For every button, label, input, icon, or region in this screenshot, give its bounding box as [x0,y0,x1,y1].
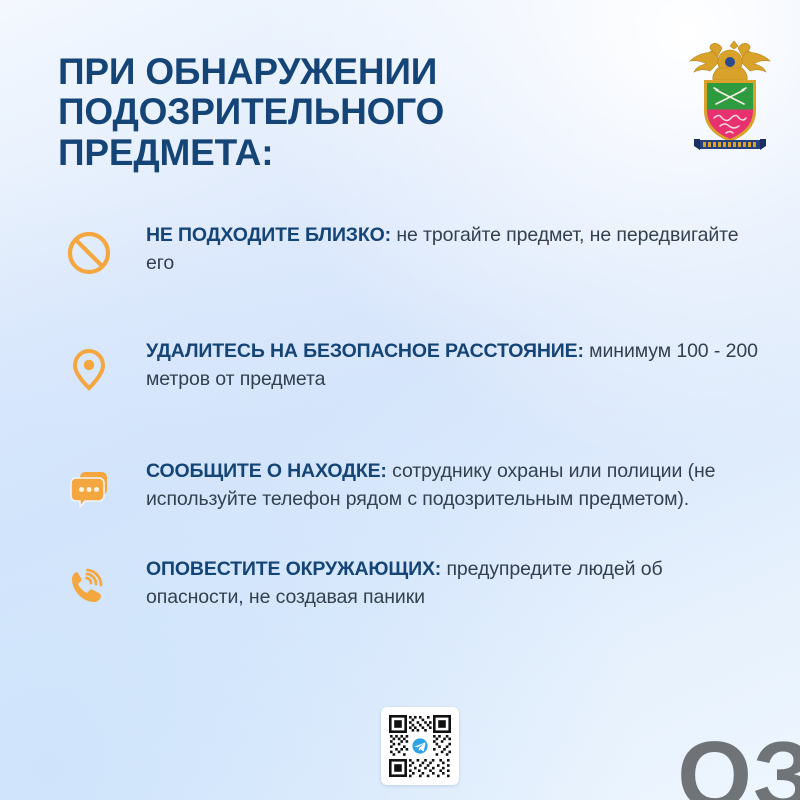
list-item-lead: СООБЩИТЕ О НАХОДКЕ: [146,460,387,482]
qr-code[interactable] [381,707,459,785]
map-pin-icon [60,340,118,398]
double-headed-eagle-icon [690,41,770,80]
list-item-lead: НЕ ПОДХОДИТЕ БЛИЗКО: [146,224,391,246]
qr-code-graphic [385,711,455,781]
ribbon-banner [694,139,766,150]
prohibition-icon [60,224,118,282]
list-item-text: УДАЛИТЕСЬ НА БЕЗОПАСНОЕ РАССТОЯНИЕ: мини… [146,338,760,393]
list-item: СООБЩИТЕ О НАХОДКЕ: сотруднику охраны ил… [60,458,760,522]
page-title: ПРИ ОБНАРУЖЕНИИ ПОДОЗРИТЕЛЬНОГО ПРЕДМЕТА… [58,52,658,173]
list-item: НЕ ПОДХОДИТЕ БЛИЗКО: не трогайте предмет… [60,222,760,286]
list-item-lead: ОПОВЕСТИТЕ ОКРУЖАЮЩИХ: [146,558,441,580]
phone-signal-icon [60,558,118,616]
list-item-text: НЕ ПОДХОДИТЕ БЛИЗКО: не трогайте предмет… [146,222,760,277]
watermark-text: ОЗ [677,728,800,800]
telegram-icon [411,737,430,756]
list-item-lead: УДАЛИТЕСЬ НА БЕЗОПАСНОЕ РАССТОЯНИЕ: [146,340,584,362]
list-item-text: ОПОВЕСТИТЕ ОКРУЖАЮЩИХ: предупредите люде… [146,556,760,611]
list-item: ОПОВЕСТИТЕ ОКРУЖАЮЩИХ: предупредите люде… [60,556,760,620]
safety-steps-list: НЕ ПОДХОДИТЕ БЛИЗКО: не трогайте предмет… [60,222,760,620]
list-item-text: СООБЩИТЕ О НАХОДКЕ: сотруднику охраны ил… [146,458,760,513]
safety-poster: ПРИ ОБНАРУЖЕНИИ ПОДОЗРИТЕЛЬНОГО ПРЕДМЕТА… [0,0,800,800]
mvd-emblem [684,36,776,152]
shield-bottom-pink [707,110,753,140]
list-item: УДАЛИТЕСЬ НА БЕЗОПАСНОЕ РАССТОЯНИЕ: мини… [60,338,760,402]
chat-bubbles-icon [60,460,118,518]
